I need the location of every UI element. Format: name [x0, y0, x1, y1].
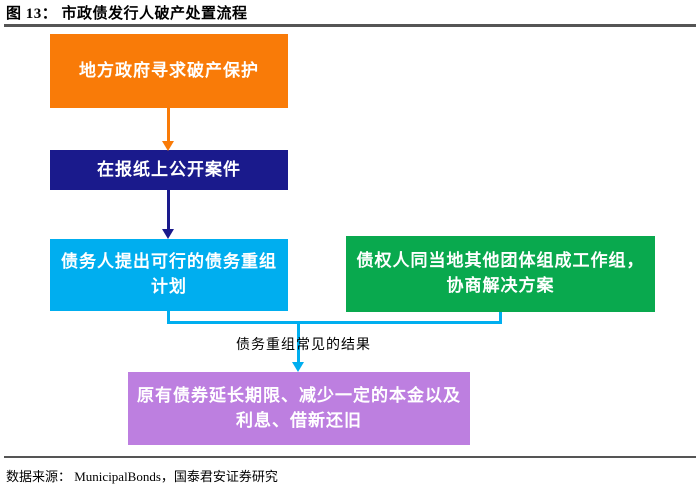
connector-merge-horizontal-bar: [167, 321, 502, 324]
figure-title: 图 13： 市政债发行人破产处置流程: [6, 2, 248, 23]
header-divider-rule: [4, 24, 696, 27]
arrow-down-icon-publish-to-debtor: [162, 229, 174, 239]
flow-node-debtor-restructuring-plan: 债务人提出可行的债务重组计划: [50, 239, 288, 311]
flow-node-restructuring-outcome: 原有债券延长期限、减少一定的本金以及利息、借新还旧: [128, 372, 470, 445]
flow-node-creditor-working-group: 债权人同当地其他团体组成工作组，协商解决方案: [346, 236, 655, 312]
flow-node-government-seeks-bankruptcy: 地方政府寻求破产保护: [50, 34, 288, 108]
figure-container: 图 13： 市政债发行人破产处置流程 地方政府寻求破产保护 在报纸上公开案件 债…: [0, 0, 700, 491]
figure-source-note: 数据来源： MunicipalBonds，国泰君安证券研究: [6, 466, 278, 485]
arrow-down-icon-govt-to-publish: [162, 141, 174, 151]
flow-node-publish-case-in-newspaper: 在报纸上公开案件: [50, 150, 288, 190]
edge-label-common-restructuring-result: 债务重组常见的结果: [236, 334, 371, 354]
arrow-down-icon-merge-to-outcome: [292, 362, 304, 372]
connector-govt-to-publish-line: [167, 108, 170, 142]
footer-divider-rule: [4, 456, 696, 458]
connector-publish-to-debtor-line: [167, 190, 170, 230]
